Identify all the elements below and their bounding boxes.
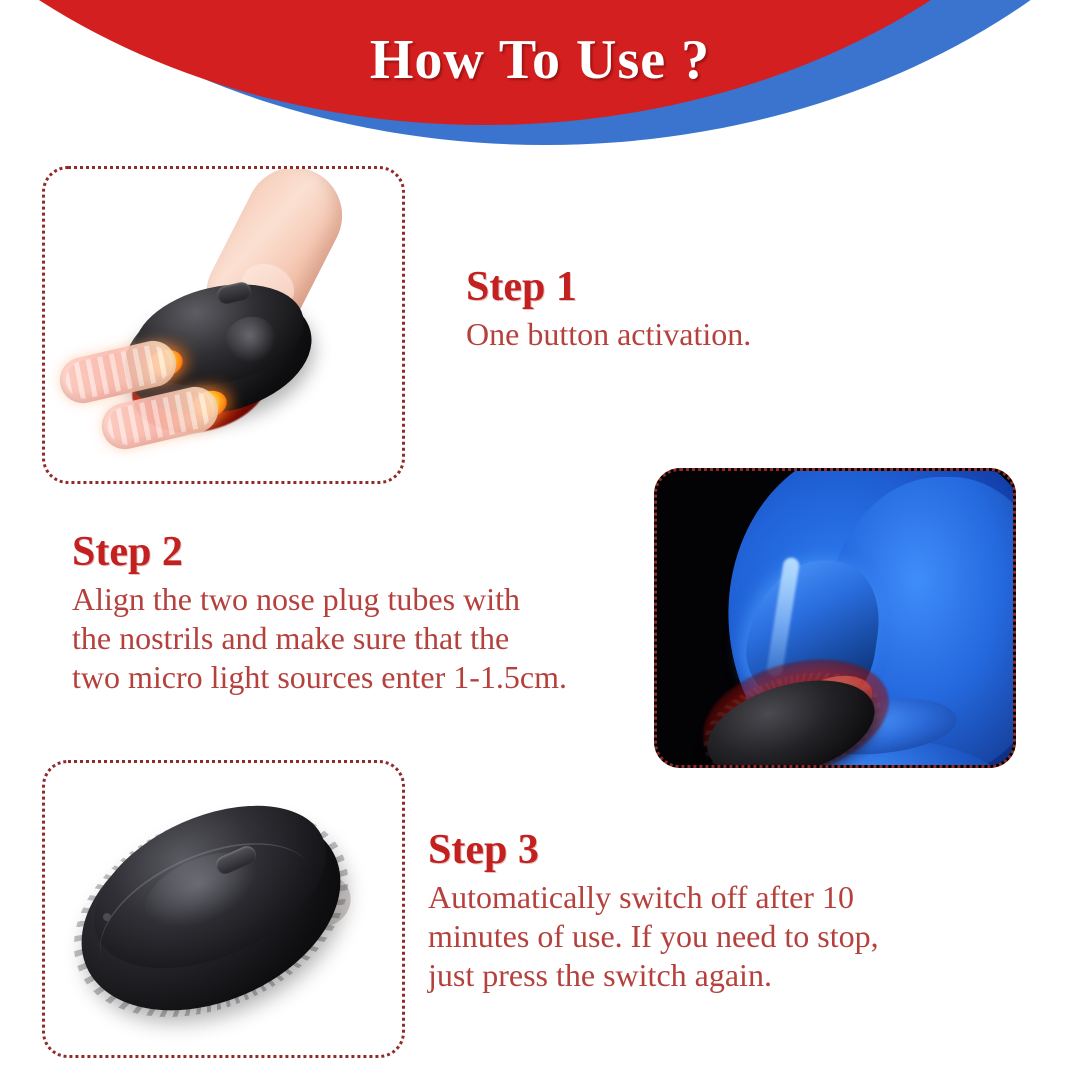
step-3-text-block: Step 3 Automatically switch off after 10… xyxy=(428,828,988,995)
step-3-illustration xyxy=(45,763,402,1055)
step-3-image-panel xyxy=(42,760,405,1058)
step-2-body: Align the two nose plug tubes with the n… xyxy=(72,580,632,697)
step-1-text-block: Step 1 One button activation. xyxy=(466,265,986,354)
step-1-illustration xyxy=(45,169,402,481)
header-banner: How To Use ? xyxy=(0,0,1080,185)
step-3-body: Automatically switch off after 10 minute… xyxy=(428,878,988,995)
step-1-title: Step 1 xyxy=(466,265,986,309)
indicator-dot xyxy=(103,913,111,921)
step-2-image-panel xyxy=(654,468,1016,768)
step-1-image-panel xyxy=(42,166,405,484)
step-1-body: One button activation. xyxy=(466,315,986,354)
step-2-text-block: Step 2 Align the two nose plug tubes wit… xyxy=(72,530,632,697)
page-title: How To Use ? xyxy=(0,28,1080,92)
step-2-illustration xyxy=(657,471,1013,765)
infographic-page: How To Use ? Step 1 One button activatio… xyxy=(0,0,1080,1080)
step-3-title: Step 3 xyxy=(428,828,988,872)
step-2-title: Step 2 xyxy=(72,530,632,574)
